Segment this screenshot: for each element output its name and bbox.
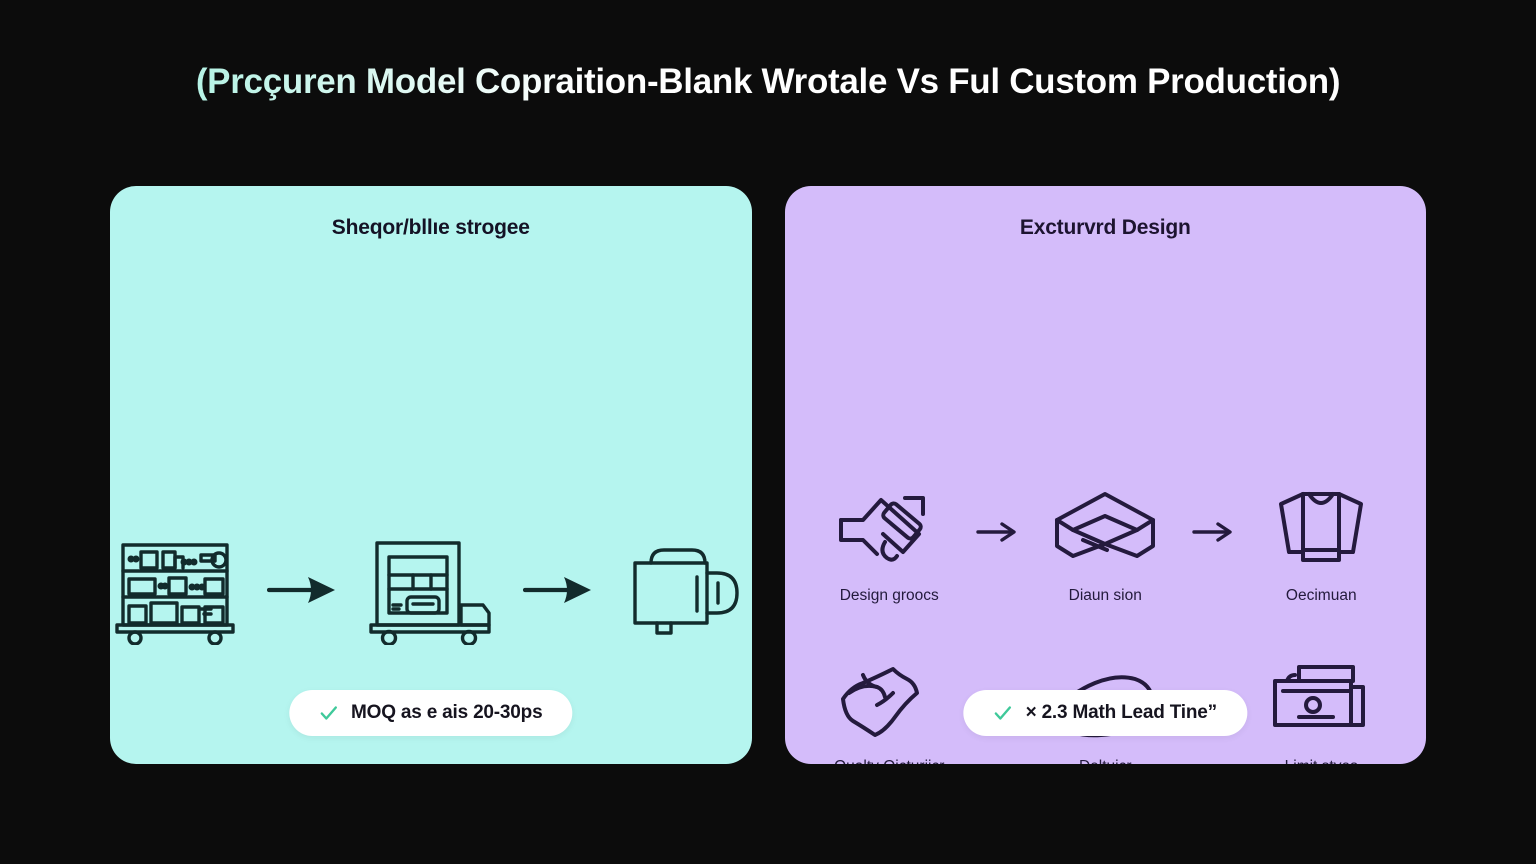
tshirt-icon [1265,486,1377,570]
arrow-right-icon-r1a [960,486,1034,544]
cell-label: Oecimuan [1286,587,1357,605]
grid-row-1: Design groocs [815,486,1397,605]
box-printer-icon [1265,657,1377,741]
fabric-swatch-icon [833,657,945,741]
right-pill-label: × 2.3 Math Lead Tine” [1026,702,1217,724]
card-blank-wholesale[interactable]: Sheqor/bllıe strogee [110,186,752,764]
arrow-right-icon-2 [523,573,595,607]
check-icon [319,704,338,723]
arrow-right-icon-1 [267,573,339,607]
cell-label: Design groocs [840,587,939,605]
delivery-truck-icon [365,535,497,645]
package-box-icon [621,535,752,645]
cell-diaun-sion[interactable]: Diaun sion [1034,486,1176,605]
cell-label: Limit styes [1285,758,1358,764]
right-card-pill[interactable]: × 2.3 Math Lead Tine” [964,690,1247,736]
left-pill-label: MOQ as e ais 20-30ps [351,702,542,724]
page-title: (Prcçuren Model Copraition-Blank Wrotale… [0,62,1536,102]
cell-limit-styes[interactable]: Limit styes [1250,657,1392,764]
slide-canvas: (Prcçuren Model Copraition-Blank Wrotale… [0,0,1536,864]
cell-design-groocs[interactable]: Design groocs [818,486,960,605]
arrow-right-icon-r1b [1176,486,1250,544]
left-card-flow [110,535,752,645]
card-right-title: Excturvrd Design [785,216,1427,240]
folded-cap-icon [1049,486,1161,570]
cell-label: Qualty Oicturiicr [834,758,944,764]
cell-qualty-oicturiicr[interactable]: Qualty Oicturiicr [818,657,960,764]
handshake-deal-icon [833,486,945,570]
cell-oecimuan[interactable]: Oecimuan [1250,486,1392,605]
cell-label: Deltuicr [1079,758,1132,764]
comparison-cards: Sheqor/bllıe strogee [110,186,1426,764]
cell-label: Diaun sion [1069,587,1142,605]
card-left-title: Sheqor/bllıe strogee [110,216,752,240]
left-card-pill[interactable]: MOQ as e ais 20-30ps [289,690,572,736]
check-icon [994,704,1013,723]
warehouse-rack-icon [110,535,241,645]
card-custom-production[interactable]: Excturvrd Design [785,186,1427,764]
